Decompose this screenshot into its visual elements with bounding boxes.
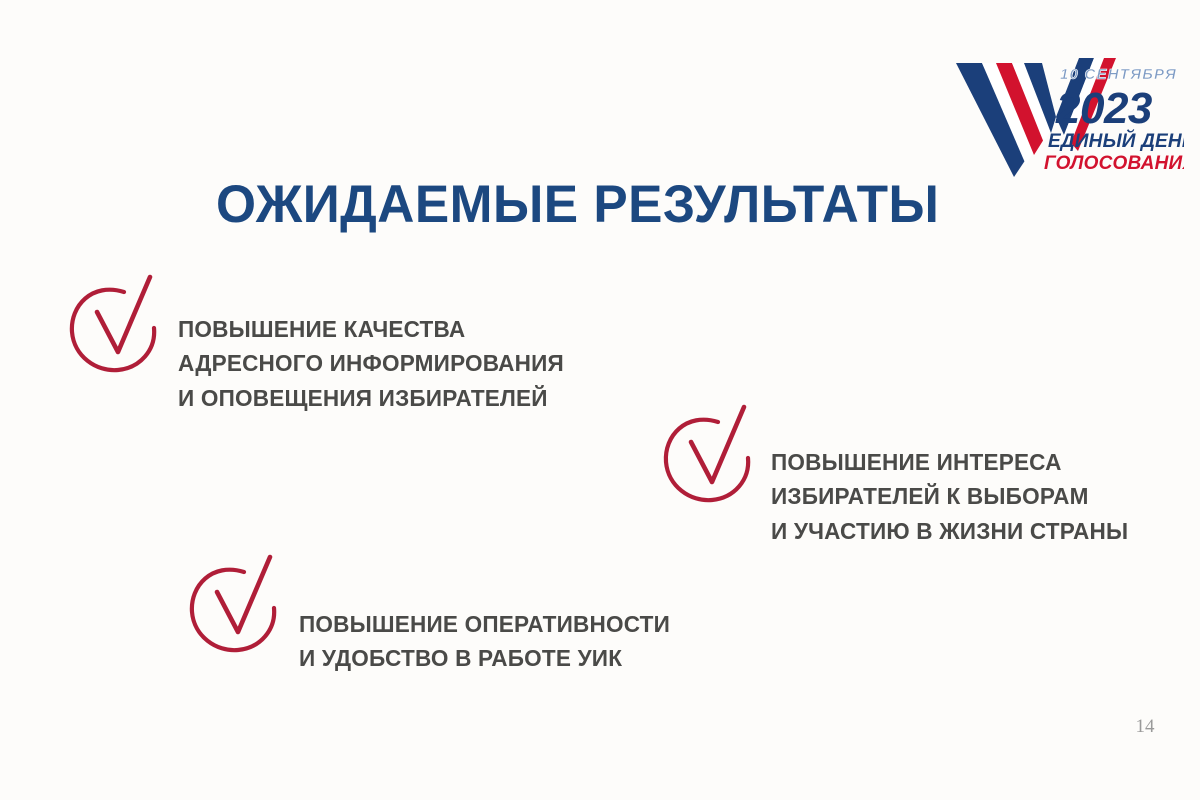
bullet-line: ПОВЫШЕНИЕ ИНТЕРЕСА (771, 445, 1128, 479)
bullet-text: ПОВЫШЕНИЕ ОПЕРАТИВНОСТИ И УДОБСТВО В РАБ… (299, 607, 670, 676)
bullet-text: ПОВЫШЕНИЕ ИНТЕРЕСА ИЗБИРАТЕЛЕЙ К ВЫБОРАМ… (771, 445, 1128, 548)
election-day-logo: 10 СЕНТЯБРЯ 2023 ЕДИНЫЙ ДЕНЬ ГОЛОСОВАНИЯ (952, 55, 1184, 177)
bullet-line: ПОВЫШЕНИЕ ОПЕРАТИВНОСТИ (299, 607, 670, 641)
slide-title: ОЖИДАЕМЫЕ РЕЗУЛЬТАТЫ (216, 178, 939, 231)
logo-date-text: 10 СЕНТЯБРЯ (1060, 66, 1177, 83)
circled-check-icon (62, 272, 166, 380)
bullet-item: ПОВЫШЕНИЕ ОПЕРАТИВНОСТИ И УДОБСТВО В РАБ… (182, 552, 685, 676)
bullet-line: АДРЕСНОГО ИНФОРМИРОВАНИЯ (178, 346, 564, 380)
bullet-line: ПОВЫШЕНИЕ КАЧЕСТВА (178, 312, 564, 346)
bullet-line: И ОПОВЕЩЕНИЯ ИЗБИРАТЕЛЕЙ (178, 381, 564, 415)
logo-line2-text: ГОЛОСОВАНИЯ (1044, 153, 1184, 174)
bullet-text: ПОВЫШЕНИЕ КАЧЕСТВА АДРЕСНОГО ИНФОРМИРОВА… (178, 312, 564, 415)
logo-line1-text: ЕДИНЫЙ ДЕНЬ (1048, 130, 1184, 152)
circled-check-icon (182, 552, 286, 660)
logo-year-text: 2023 (1055, 84, 1152, 133)
bullet-line: И УДОБСТВО В РАБОТЕ УИК (299, 641, 670, 675)
bullet-item: ПОВЫШЕНИЕ КАЧЕСТВА АДРЕСНОГО ИНФОРМИРОВА… (62, 272, 580, 415)
bullet-item: ПОВЫШЕНИЕ ИНТЕРЕСА ИЗБИРАТЕЛЕЙ К ВЫБОРАМ… (656, 402, 1143, 548)
presentation-slide: 10 СЕНТЯБРЯ 2023 ЕДИНЫЙ ДЕНЬ ГОЛОСОВАНИЯ… (0, 0, 1200, 800)
circled-check-icon (656, 402, 760, 510)
page-number: 14 (1125, 716, 1165, 738)
bullet-line: ИЗБИРАТЕЛЕЙ К ВЫБОРАМ (771, 479, 1128, 513)
bullet-line: И УЧАСТИЮ В ЖИЗНИ СТРАНЫ (771, 514, 1128, 548)
